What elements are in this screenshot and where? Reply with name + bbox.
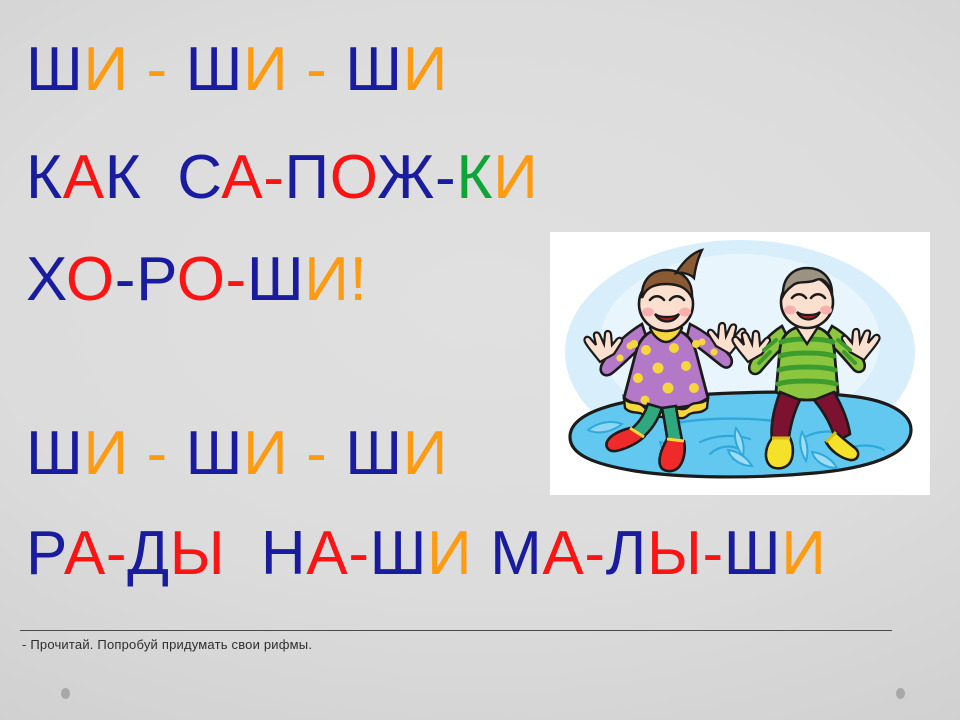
verse-glyph: Р	[26, 519, 64, 588]
verse-glyph: М	[490, 519, 542, 588]
verse-glyph	[288, 419, 306, 488]
verse-glyph: -	[226, 245, 247, 314]
decorative-dot-left	[61, 688, 70, 699]
verse-glyph: -	[435, 143, 456, 212]
verse-glyph: И	[243, 35, 288, 104]
verse-glyph: Ш	[345, 419, 402, 488]
verse-glyph	[129, 419, 147, 488]
verse-glyph: Ш	[186, 419, 243, 488]
verse-glyph: А	[221, 143, 263, 212]
verse-line-3: ХО-РО-ШИ!	[26, 244, 367, 315]
verse-glyph: -	[348, 519, 369, 588]
verse-glyph: И	[403, 35, 448, 104]
verse-glyph	[327, 35, 345, 104]
verse-glyph: Д	[127, 519, 170, 588]
verse-glyph: О	[330, 143, 377, 212]
verse-glyph	[327, 419, 345, 488]
verse-glyph: И	[427, 519, 472, 588]
verse-glyph: -	[106, 519, 127, 588]
verse-glyph: -	[584, 519, 605, 588]
verse-line-2: КАК СА-ПОЖ-КИ	[26, 142, 538, 213]
verse-glyph	[472, 519, 490, 588]
verse-glyph: Ш	[186, 35, 243, 104]
verse-glyph	[141, 143, 177, 212]
decorative-dot-right	[896, 688, 905, 699]
verse-glyph: А	[63, 143, 105, 212]
footer-divider	[20, 630, 892, 631]
verse-glyph: Ш	[724, 519, 781, 588]
verse-glyph: Х	[26, 245, 66, 314]
verse-line-1: ШИ - ШИ - ШИ	[26, 34, 448, 105]
verse-glyph: -	[306, 35, 327, 104]
verse-glyph: П	[285, 143, 330, 212]
verse-glyph: А	[306, 519, 348, 588]
slide: ШИ - ШИ - ШИ КАК СА-ПОЖ-КИ ХО-РО-ШИ! ШИ …	[0, 0, 960, 720]
verse-glyph: -	[147, 35, 168, 104]
verse-glyph	[168, 419, 186, 488]
verse-glyph: -	[702, 519, 723, 588]
verse-glyph: !	[349, 245, 367, 314]
verse-glyph: Ш	[370, 519, 427, 588]
verse-glyph: К	[456, 143, 493, 212]
verse-line-5: РА-ДЫ НА-ШИ МА-ЛЫ-ШИ	[26, 518, 826, 589]
verse-glyph: И	[403, 419, 448, 488]
verse-glyph: -	[147, 419, 168, 488]
verse-glyph: А	[542, 519, 584, 588]
verse-glyph: И	[243, 419, 288, 488]
verse-glyph: А	[64, 519, 106, 588]
verse-glyph: Л	[606, 519, 647, 588]
verse-glyph	[168, 35, 186, 104]
verse-glyph: О	[177, 245, 226, 314]
verse-glyph: И	[781, 519, 826, 588]
verse-glyph	[288, 35, 306, 104]
verse-glyph: Ш	[247, 245, 304, 314]
verse-glyph: Ш	[26, 35, 83, 104]
verse-glyph: И	[493, 143, 538, 212]
verse-glyph: -	[306, 419, 327, 488]
verse-glyph: -	[115, 245, 136, 314]
verse-glyph: -	[263, 143, 284, 212]
verse-glyph: И	[83, 35, 128, 104]
verse-glyph: Р	[136, 245, 177, 314]
verse-glyph: Ш	[345, 35, 402, 104]
verse-glyph: К	[105, 143, 142, 212]
children-puddle-illustration	[550, 232, 930, 495]
verse-glyph: Ш	[26, 419, 83, 488]
verse-glyph: Ы	[170, 519, 226, 588]
footer-note: - Прочитай. Попробуй придумать свои рифм…	[22, 637, 312, 652]
verse-glyph: К	[26, 143, 63, 212]
verse-glyph	[129, 35, 147, 104]
verse-glyph: Н	[261, 519, 306, 588]
verse-glyph: С	[177, 143, 221, 212]
verse-glyph: И	[83, 419, 128, 488]
verse-line-4: ШИ - ШИ - ШИ	[26, 418, 448, 489]
verse-glyph	[225, 519, 261, 588]
verse-glyph: О	[66, 245, 115, 314]
verse-glyph: И	[304, 245, 349, 314]
verse-glyph: Ы	[647, 519, 703, 588]
verse-glyph: Ж	[377, 143, 435, 212]
